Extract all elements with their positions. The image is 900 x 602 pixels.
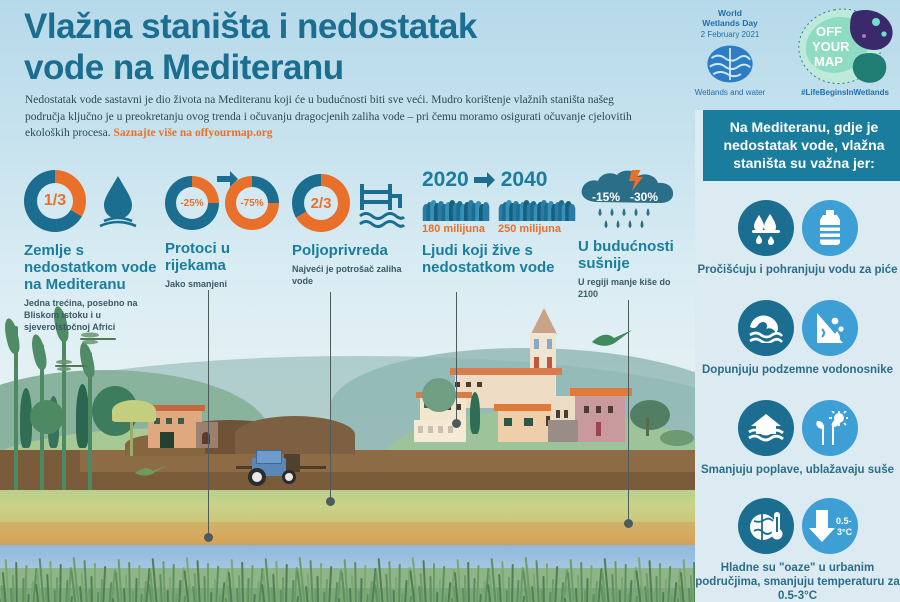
farm-building [148,410,202,448]
stat-subtitle: U regiji manje kiše do 2100 [578,276,688,300]
wwd-line-2: Wetlands Day [680,18,780,28]
stat-agriculture: 2/3 Poljoprivreda Najveći je potrošač za… [292,170,417,287]
stat-title: Zemlje s nedostatkom vode na Mediteranu [24,242,164,293]
aquifer-recharge-icon [802,300,858,356]
oym-hashtag: #LifeBeginsInWetlands [793,88,897,97]
round-tree [630,400,670,430]
landscape-illustration [0,300,700,602]
donut-value: 1/3 [37,183,73,219]
people-count-from: 180 milijuna [422,223,490,235]
stat-subtitle: Jako smanjeni [165,278,285,290]
stat-river-flows: -25% -75% Protoci u rijekama Jako smanje… [165,170,285,290]
window [166,418,172,424]
wwd-line-1: World [680,8,780,18]
stat-title: U budućnosti sušnije [578,238,688,272]
tractor [240,450,316,486]
brain-wetland-icon [704,43,756,85]
year-to: 2040 [501,168,548,192]
connector-line [330,292,331,500]
round-tree [422,378,456,412]
foreground-grass [0,536,700,602]
soil-mound [235,416,355,454]
sidebar-item-label: Pročišćuju i pohranjuju vodu za piće [695,263,900,277]
stat-title: Ljudi koji žive s nedostatkom vode [422,242,582,276]
connector-line [208,290,209,536]
sidebar-item-reduce-floods[interactable]: Smanjuju poplave, ublažavaju suše [695,400,900,477]
barn-door [160,432,174,448]
offyourmap-link[interactable]: offyourmap.org [195,127,273,139]
water-drop-icon [98,174,138,228]
down-arrow-icon: 0.5- 3°C [802,498,858,554]
off-your-map-logo: OFF YOUR MAP [788,6,896,88]
donut-chart-minus-25: -25% [165,176,219,230]
sidebar-item-recharge-aquifers[interactable]: Dopunjuju podzemne vodonosnike [695,300,900,377]
drought-plants-sun-icon [802,400,858,456]
rain-value-b: -30% [630,190,658,204]
connector-line [628,300,629,522]
sidebar-item-label: Dopunjuju podzemne vodonosnike [695,363,900,377]
donut-chart-two-thirds: 2/3 [292,174,350,232]
svg-text:0.5-: 0.5- [836,516,852,526]
globe-thermometer-icon [738,498,794,554]
sidebar-item-label: Hladne su "oaze" u urbanim područjima, s… [695,561,900,602]
sidebar-heading: Na Mediteranu, gdje je nedostatak vode, … [703,110,900,181]
intro-cta: Saznajte više na [113,127,192,139]
donut-chart-minus-75: -75% [225,176,279,230]
donut-chart-one-third: 1/3 [24,170,86,232]
flooded-house-icon [738,400,794,456]
donut-value-a: -25% [176,187,208,219]
wave-icon [738,300,794,356]
bush [660,430,694,446]
irrigation-pipe-icon [358,178,406,228]
sidebar-item-label: Smanjuju poplave, ublažavaju suše [695,463,900,477]
village-roof [450,368,562,375]
stat-subtitle: Najveći je potrošač zaliha vode [292,263,417,287]
donut-value-b: -75% [236,187,268,219]
title-line-2: vode na Mediteranu [24,47,684,88]
wwd-tagline: Wetlands and water [680,88,780,97]
tractor-wheel-rear [248,468,266,486]
connector-line [456,292,457,422]
farm-annex [196,422,218,448]
donut-value: 2/3 [304,186,338,220]
svg-text:YOUR: YOUR [812,39,850,54]
sidebar-item-cool-oases[interactable]: 0.5- 3°C Hladne su "oaze" u urbanim podr… [695,498,900,602]
connector-dot [326,497,335,506]
people-crowd-icon [422,195,490,221]
round-tree [30,400,64,434]
palm-fronds [112,400,156,422]
stat-water-scarce-countries: 1/3 Zemlje s nedostatkom vode na Mediter… [24,170,164,333]
stat-people-water-scarcity: 2020 2040 180 milijuna 250 milijuna Ljud… [422,168,582,280]
year-from: 2020 [422,168,469,192]
people-crowd-icon [498,195,576,221]
stat-subtitle: Jedna trećina, posebno na Bliskom istoku… [24,297,164,333]
flying-bird-icon [134,464,168,478]
wwd-date: 2 February 2021 [680,29,780,40]
svg-text:OFF: OFF [816,24,842,39]
title-line-1: Vlažna staništa i nedostatak [24,6,684,47]
water-bottle-icon [802,200,858,256]
intro-paragraph: Nedostatak vode sastavni je dio života n… [25,92,650,142]
rain-value-a: -15% [592,190,620,204]
people-count-to: 250 milijuna [498,223,576,235]
tractor-cab [256,450,282,464]
svg-text:MAP: MAP [814,54,843,69]
world-wetlands-day-logo: World Wetlands Day 2 February 2021 Wetla… [680,8,780,97]
arrow-right-icon [474,172,496,188]
connector-dot [624,519,633,528]
connector-dot [452,419,461,428]
infographic-page: Vlažna staništa i nedostatak vode na Med… [0,0,900,602]
sidebar-item-purify-store[interactable]: Pročišćuju i pohranjuju vodu za piće [695,200,900,277]
church-spire [531,308,557,334]
stat-drier-future: -15% -30% U budućnosti sušnije U regiji … [578,170,688,300]
cypress-tree [470,392,480,434]
connector-dot [204,533,213,542]
water-filter-icon [738,200,794,256]
tree-trunk [646,418,649,436]
stat-title: Poljoprivreda [292,242,417,259]
reed-plume [29,333,48,371]
dragonfly-icon [52,358,92,374]
window [178,418,184,424]
village-roof [570,388,632,396]
reed-plume [2,317,21,355]
stat-title: Protoci u rijekama [165,240,285,274]
svg-text:3°C: 3°C [837,527,853,537]
page-title: Vlažna staništa i nedostatak vode na Med… [24,6,684,88]
tractor-wheel-front [282,470,296,484]
